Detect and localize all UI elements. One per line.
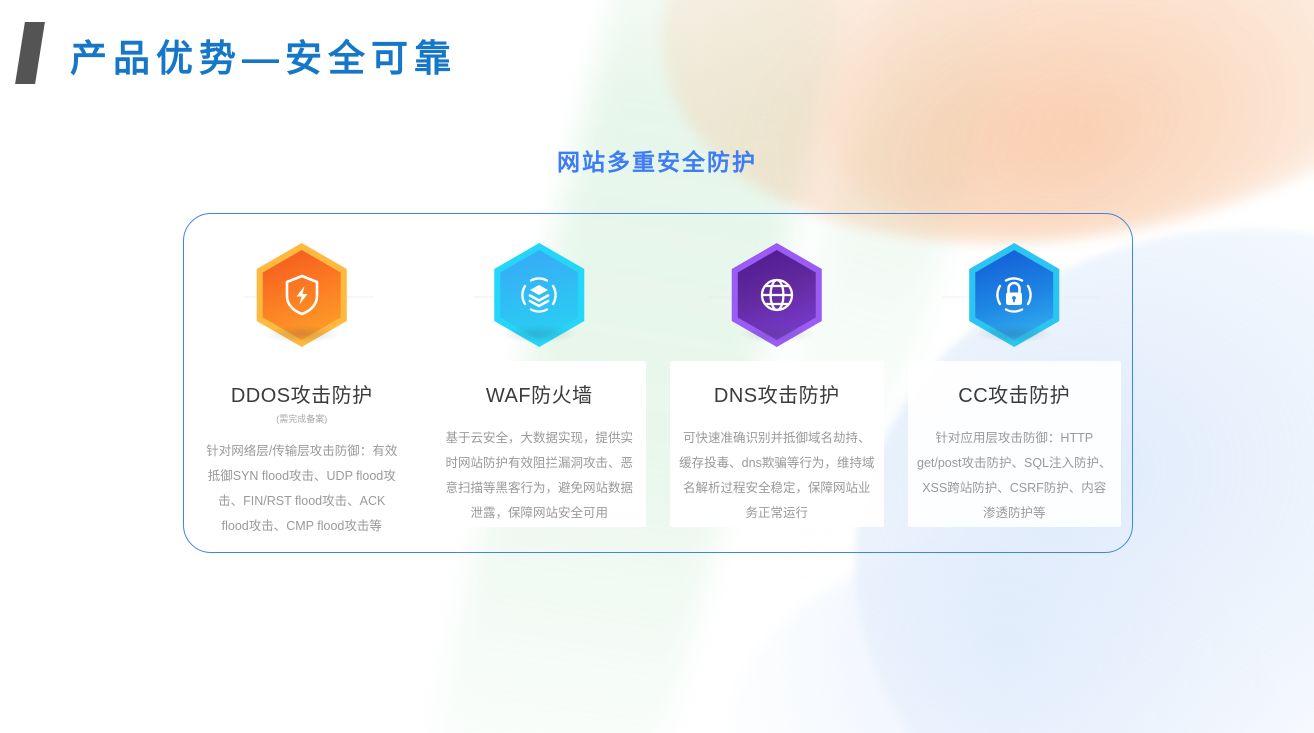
- title-accent-bar: [15, 22, 45, 84]
- feature-card-waf[interactable]: WAF防火墙 基于云安全，大数据实现，提供实时网站防护有效阻拦漏洞攻击、恶意扫描…: [421, 213, 659, 553]
- card-description: 针对应用层攻击防御：HTTP get/post攻击防护、SQL注入防护、 XSS…: [916, 426, 1112, 526]
- icon-glyph: [250, 243, 354, 347]
- shield-bolt-icon: [250, 243, 354, 347]
- feature-card-cc[interactable]: CC攻击防护 针对应用层攻击防御：HTTP get/post攻击防护、SQL注入…: [896, 213, 1134, 553]
- lock-shield-icon: [962, 243, 1066, 347]
- slide-header: 产品优势—安全可靠: [0, 0, 1314, 110]
- layers-stack-icon: [487, 243, 591, 347]
- feature-card-dns[interactable]: DNS攻击防护 可快速准确识别并抵御域名劫持、缓存投毒、dns欺骗等行为，维持域…: [658, 213, 896, 553]
- icon-glyph: [725, 243, 829, 347]
- card-title: WAF防火墙: [486, 379, 593, 408]
- icon-glyph: [962, 243, 1066, 347]
- card-title: CC攻击防护: [958, 379, 1070, 408]
- card-description: 基于云安全，大数据实现，提供实时网站防护有效阻拦漏洞攻击、恶意扫描等黑客行为，避…: [441, 426, 637, 526]
- page-title: 产品优势—安全可靠: [70, 28, 457, 82]
- feature-card-ddos[interactable]: DDOS攻击防护 (需完成备案) 针对网络层/传输层攻击防御：有效抵御SYN f…: [183, 213, 421, 553]
- slide-root: 产品优势—安全可靠 网站多重安全防护: [0, 0, 1314, 733]
- card-description: 可快速准确识别并抵御域名劫持、缓存投毒、dns欺骗等行为，维持域名解析过程安全稳…: [679, 426, 875, 526]
- feature-card-row: DDOS攻击防护 (需完成备案) 针对网络层/传输层攻击防御：有效抵御SYN f…: [183, 213, 1133, 553]
- blue-blob-bottom: [724, 543, 1284, 733]
- card-title: DNS攻击防护: [714, 379, 840, 408]
- card-title: DDOS攻击防护: [231, 379, 373, 408]
- icon-glyph: [487, 243, 591, 347]
- globe-icon: [725, 243, 829, 347]
- card-description: 针对网络层/传输层攻击防御：有效抵御SYN flood攻击、UDP flood攻…: [204, 439, 400, 539]
- card-note: (需完成备案): [276, 412, 327, 425]
- section-subtitle: 网站多重安全防护: [0, 143, 1314, 177]
